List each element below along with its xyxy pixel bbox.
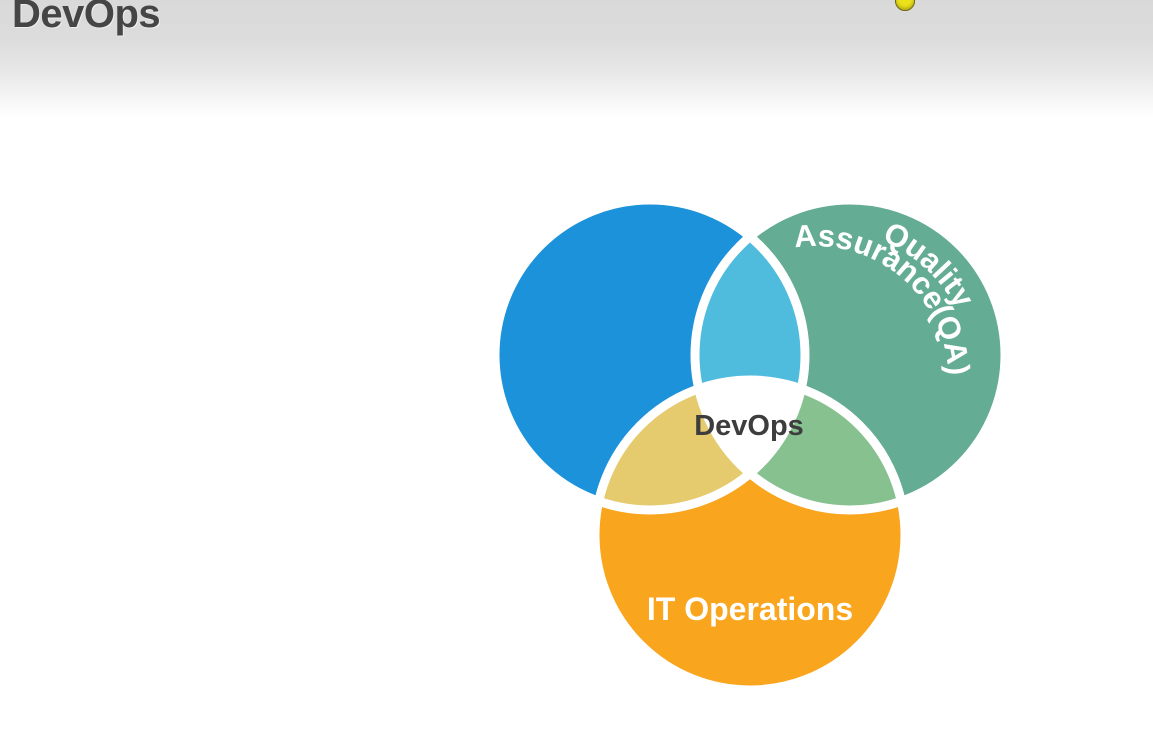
venn-label-center-devops: DevOps [694,410,804,442]
venn-diagram: Development Quality Assurance(QA) IT Ope… [465,160,1035,730]
venn-label-it-operations: IT Operations [647,591,853,627]
header-strip: · ·· · ·· · ··· ·· · ·· · · ·· DevOps [0,0,1153,118]
clipped-toolbar-text: · ·· · ·· · ··· ·· · ·· · · ·· [150,0,750,2]
venn-diagram-svg: Development Quality Assurance(QA) IT Ope… [465,160,1035,730]
page-title: DevOps [12,0,160,34]
yellow-circle-icon[interactable] [895,0,915,11]
